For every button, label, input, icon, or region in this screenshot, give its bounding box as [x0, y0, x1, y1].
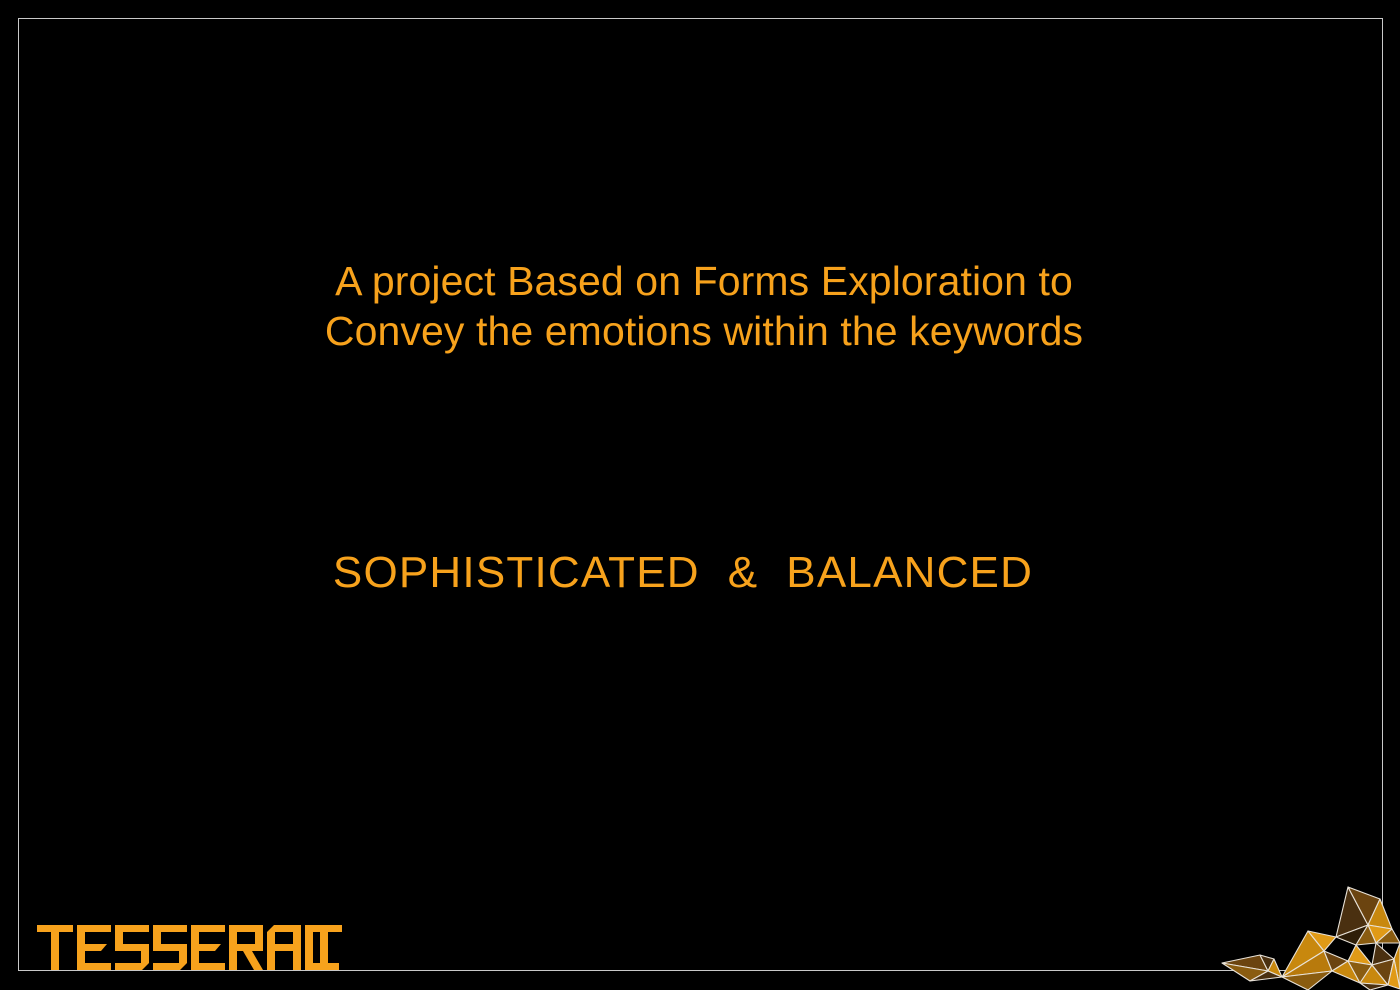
presentation-slide: A project Based on Forms Exploration to … [0, 0, 1400, 990]
keywords-line: SOPHISTICATED&BALANCED [0, 547, 1366, 599]
tesseract-logo-icon [37, 925, 342, 970]
keyword-separator: & [700, 548, 787, 597]
slide-border-frame [18, 18, 1383, 971]
tesseract-logo [37, 925, 342, 970]
keyword-secondary: BALANCED [786, 548, 1033, 597]
page-title: A project Based on Forms Exploration to … [0, 256, 1400, 356]
keyword-primary: SOPHISTICATED [333, 548, 700, 597]
corner-decoration [1220, 885, 1400, 990]
low-poly-triangles-icon [1220, 885, 1400, 990]
